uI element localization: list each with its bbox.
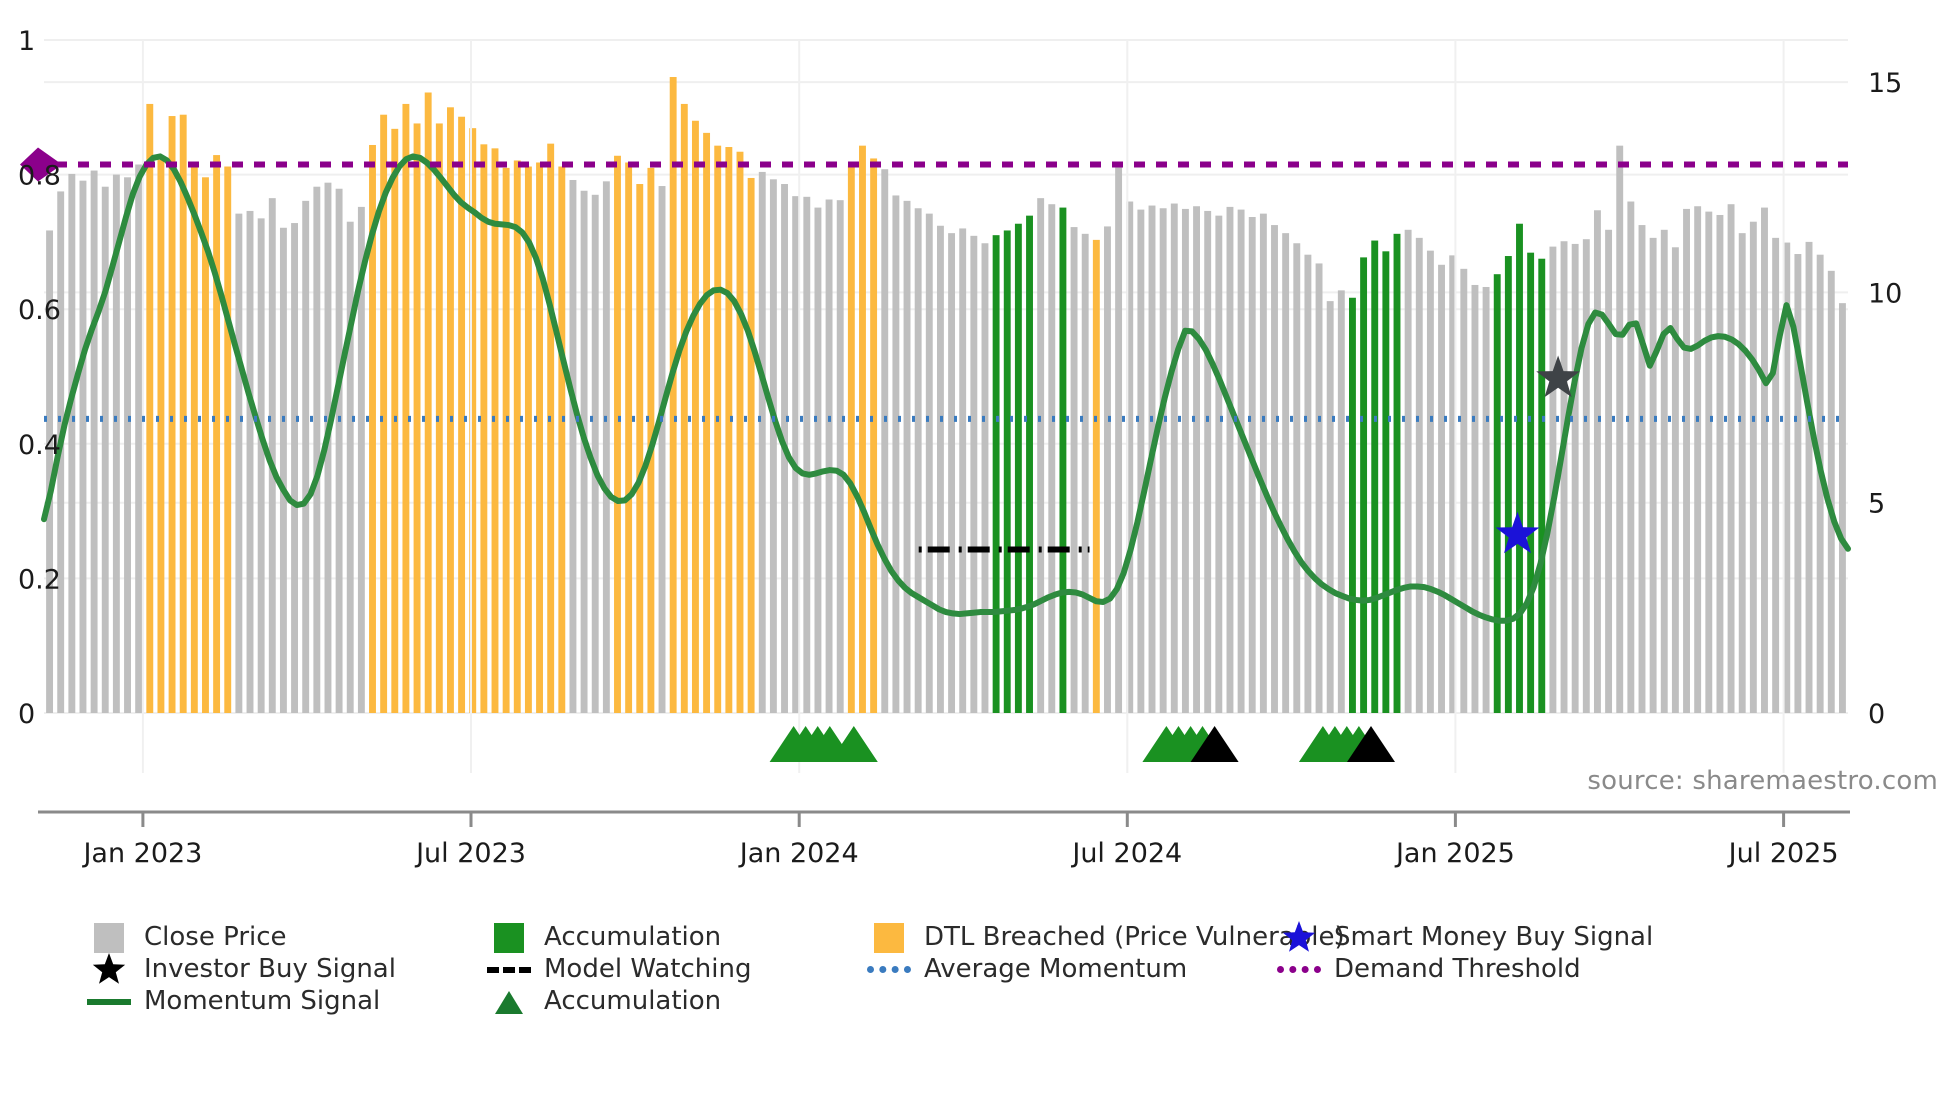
bar-accumulation bbox=[1026, 216, 1033, 713]
bar-dtl-breached bbox=[714, 146, 721, 713]
bar-close-price bbox=[814, 208, 821, 713]
bar-close-price bbox=[1282, 233, 1289, 713]
bar-close-price bbox=[1716, 215, 1723, 713]
bar-accumulation bbox=[1505, 256, 1512, 713]
bar-close-price bbox=[1806, 242, 1813, 713]
bar-close-price bbox=[235, 214, 242, 713]
accumulation-bar-swatch bbox=[486, 923, 532, 953]
bar-close-price bbox=[1472, 285, 1479, 713]
average-momentum-dotted-line-icon bbox=[867, 966, 911, 973]
bar-close-price bbox=[1048, 204, 1055, 713]
bar-close-price bbox=[1639, 225, 1646, 713]
bar-dtl-breached bbox=[625, 162, 632, 713]
y-axis-tick-label-left: 0.8 bbox=[18, 161, 61, 192]
x-axis-tick-label: Jan 2023 bbox=[81, 838, 202, 869]
bar-close-price bbox=[792, 196, 799, 713]
bar-close-price bbox=[258, 218, 265, 713]
bar-close-price bbox=[1160, 208, 1167, 713]
bar-close-price bbox=[291, 223, 298, 713]
bar-close-price bbox=[1594, 210, 1601, 713]
bar-dtl-breached bbox=[191, 163, 198, 713]
legend-item-average-momentum[interactable]: Average Momentum bbox=[866, 954, 1187, 985]
bar-close-price bbox=[759, 172, 766, 713]
bar-close-price bbox=[904, 201, 911, 713]
legend-label-close-price: Close Price bbox=[144, 922, 287, 953]
bar-close-price bbox=[1227, 207, 1234, 713]
bar-accumulation bbox=[1394, 234, 1401, 713]
bar-dtl-breached bbox=[146, 104, 153, 713]
bar-dtl-breached bbox=[725, 147, 732, 713]
momentum-signal-line-icon bbox=[87, 999, 131, 1005]
bar-dtl-breached bbox=[492, 148, 499, 713]
legend-label-demand-threshold: Demand Threshold bbox=[1334, 954, 1581, 985]
bar-close-price bbox=[1739, 233, 1746, 713]
bar-dtl-breached bbox=[737, 152, 744, 713]
bar-close-price bbox=[770, 179, 777, 713]
bar-dtl-breached bbox=[447, 107, 454, 713]
bar-close-price bbox=[1561, 241, 1568, 713]
bar-dtl-breached bbox=[480, 144, 487, 713]
model-watching-dashed-line-icon bbox=[487, 967, 531, 973]
bar-close-price bbox=[970, 236, 977, 713]
bar-close-price bbox=[1694, 206, 1701, 713]
legend-item-accumulation-triangle[interactable]: Accumulation bbox=[486, 986, 721, 1017]
bar-close-price bbox=[1137, 210, 1144, 713]
bar-close-price bbox=[603, 181, 610, 713]
legend-item-dtl-breached[interactable]: DTL Breached (Price Vulnerable) bbox=[866, 922, 1345, 953]
legend-label-smart-money-buy-signal: Smart Money Buy Signal bbox=[1334, 922, 1653, 953]
investor-buy-signal-swatch bbox=[86, 953, 132, 987]
bar-close-price bbox=[948, 233, 955, 713]
bar-close-price bbox=[80, 181, 87, 713]
accumulation-triangle-swatch bbox=[486, 987, 532, 1017]
bar-dtl-breached bbox=[748, 178, 755, 713]
bar-close-price bbox=[1338, 290, 1345, 713]
bar-dtl-breached bbox=[536, 162, 543, 713]
bar-close-price bbox=[1082, 234, 1089, 713]
bar-close-price bbox=[1705, 212, 1712, 713]
model-watching-swatch bbox=[486, 967, 532, 973]
demand-threshold-dotted-line-icon bbox=[1277, 966, 1321, 973]
x-axis-tick-label: Jul 2025 bbox=[1727, 838, 1839, 869]
legend-label-accumulation-triangle: Accumulation bbox=[544, 986, 721, 1017]
bar-dtl-breached bbox=[425, 92, 432, 713]
bar-close-price bbox=[347, 222, 354, 713]
bar-close-price bbox=[1238, 210, 1245, 713]
bar-dtl-breached bbox=[859, 146, 866, 713]
legend-row: Close PriceAccumulationDTL Breached (Pri… bbox=[86, 922, 1936, 953]
bar-close-price bbox=[1316, 263, 1323, 713]
bar-dtl-breached bbox=[414, 123, 421, 713]
dtl-breached-swatch-icon bbox=[874, 923, 904, 953]
bar-accumulation bbox=[993, 235, 1000, 713]
bar-close-price bbox=[982, 243, 989, 713]
dtl-breached-swatch bbox=[866, 923, 912, 953]
legend-item-smart-money-buy-signal[interactable]: Smart Money Buy Signal bbox=[1276, 922, 1653, 953]
bar-close-price bbox=[1460, 269, 1467, 713]
accumulation-triangle-triangle-icon bbox=[492, 987, 526, 1017]
bar-close-price bbox=[124, 177, 131, 713]
bar-close-price bbox=[1405, 230, 1412, 713]
bar-dtl-breached bbox=[224, 167, 231, 713]
bar-dtl-breached bbox=[402, 104, 409, 713]
bar-close-price bbox=[1304, 255, 1311, 713]
bar-dtl-breached bbox=[558, 167, 565, 713]
legend-label-model-watching: Model Watching bbox=[544, 954, 751, 985]
y-axis-tick-label-left: 0.4 bbox=[18, 430, 61, 461]
bar-close-price bbox=[592, 195, 599, 713]
bar-close-price bbox=[280, 228, 287, 713]
y-axis-tick-label-right: 10 bbox=[1868, 278, 1902, 309]
chart-screenshot: 00.20.40.60.81051015Jan 2023Jul 2023Jan … bbox=[0, 0, 1960, 1102]
bar-close-price bbox=[881, 169, 888, 713]
bar-close-price bbox=[1794, 254, 1801, 713]
bar-close-price bbox=[1037, 198, 1044, 713]
bar-accumulation bbox=[1015, 224, 1022, 713]
bar-close-price bbox=[135, 165, 142, 714]
bar-dtl-breached bbox=[169, 116, 176, 713]
bar-close-price bbox=[1260, 214, 1267, 713]
legend-row: Investor Buy SignalModel WatchingAverage… bbox=[86, 954, 1936, 985]
bar-close-price bbox=[1772, 238, 1779, 713]
bar-close-price bbox=[1438, 265, 1445, 713]
smart-money-buy-signal-swatch bbox=[1276, 921, 1322, 955]
bar-accumulation bbox=[1059, 208, 1066, 713]
bar-close-price bbox=[803, 197, 810, 713]
y-axis-tick-label-left: 1 bbox=[18, 26, 35, 57]
bar-close-price bbox=[1750, 222, 1757, 713]
legend-label-momentum-signal: Momentum Signal bbox=[144, 986, 380, 1017]
bar-close-price bbox=[1271, 225, 1278, 713]
bar-close-price bbox=[937, 226, 944, 713]
bar-close-price bbox=[1839, 303, 1846, 713]
bar-accumulation bbox=[1538, 259, 1545, 713]
y-axis-tick-label-right: 0 bbox=[1868, 699, 1885, 730]
bar-dtl-breached bbox=[157, 160, 164, 713]
bar-close-price bbox=[570, 180, 577, 713]
accumulation-bar-swatch-icon bbox=[494, 923, 524, 953]
bar-accumulation bbox=[1004, 230, 1011, 713]
bar-close-price bbox=[1416, 238, 1423, 713]
close-price-swatch-icon bbox=[94, 923, 124, 953]
bar-close-price bbox=[926, 214, 933, 713]
smart-money-buy-signal-star-icon bbox=[1281, 921, 1317, 955]
bar-close-price bbox=[1483, 287, 1490, 713]
bar-dtl-breached bbox=[614, 156, 621, 713]
bar-close-price bbox=[1683, 209, 1690, 713]
legend-item-demand-threshold[interactable]: Demand Threshold bbox=[1276, 954, 1581, 985]
bar-dtl-breached bbox=[547, 144, 554, 713]
bar-close-price bbox=[659, 186, 666, 713]
bar-close-price bbox=[1761, 208, 1768, 713]
investor-buy-signal-star-icon bbox=[91, 953, 127, 987]
y-axis-tick-label-left: 0.6 bbox=[18, 295, 61, 326]
bar-close-price bbox=[1605, 230, 1612, 713]
bar-close-price bbox=[837, 200, 844, 713]
bar-close-price bbox=[313, 187, 320, 713]
bar-close-price bbox=[1104, 226, 1111, 713]
legend-item-close-price[interactable]: Close Price bbox=[86, 922, 287, 953]
bar-accumulation bbox=[1516, 224, 1523, 713]
legend-row: Momentum SignalAccumulation bbox=[86, 986, 1936, 1017]
bar-close-price bbox=[102, 187, 109, 713]
bar-dtl-breached bbox=[681, 104, 688, 713]
bar-accumulation bbox=[1360, 257, 1367, 713]
bar-dtl-breached bbox=[1093, 240, 1100, 713]
bar-close-price bbox=[1204, 211, 1211, 713]
bar-close-price bbox=[1672, 247, 1679, 713]
bar-accumulation bbox=[1382, 251, 1389, 713]
bar-close-price bbox=[1427, 251, 1434, 713]
legend-item-momentum-signal[interactable]: Momentum Signal bbox=[86, 986, 380, 1017]
bar-close-price bbox=[1182, 209, 1189, 713]
bar-close-price bbox=[826, 200, 833, 714]
bar-close-price bbox=[1616, 146, 1623, 713]
chart-legend: Close PriceAccumulationDTL Breached (Pri… bbox=[86, 922, 1936, 1017]
bar-dtl-breached bbox=[848, 166, 855, 713]
bar-close-price bbox=[915, 208, 922, 713]
bar-close-price bbox=[1327, 301, 1334, 713]
y-axis-tick-label-right: 5 bbox=[1868, 489, 1885, 520]
legend-label-accumulation-bar: Accumulation bbox=[544, 922, 721, 953]
bar-close-price bbox=[1661, 230, 1668, 713]
bar-dtl-breached bbox=[692, 121, 699, 713]
momentum-signal-swatch bbox=[86, 999, 132, 1005]
bar-close-price bbox=[247, 211, 254, 713]
legend-label-average-momentum: Average Momentum bbox=[924, 954, 1187, 985]
bar-close-price bbox=[1572, 244, 1579, 713]
bar-close-price bbox=[68, 174, 75, 713]
source-attribution: source: sharemaestro.com bbox=[1587, 766, 1938, 796]
bar-dtl-breached bbox=[703, 133, 710, 713]
bar-close-price bbox=[1215, 216, 1222, 713]
close-price-swatch bbox=[86, 923, 132, 953]
average-momentum-swatch bbox=[866, 966, 912, 973]
bar-accumulation bbox=[1349, 298, 1356, 713]
legend-item-model-watching[interactable]: Model Watching bbox=[486, 954, 751, 985]
bar-close-price bbox=[892, 195, 899, 713]
y-axis-tick-label-left: 0 bbox=[18, 699, 35, 730]
bar-close-price bbox=[1171, 204, 1178, 713]
bar-close-price bbox=[1071, 227, 1078, 713]
bar-dtl-breached bbox=[870, 158, 877, 713]
bar-close-price bbox=[1115, 167, 1122, 713]
bar-close-price bbox=[1193, 206, 1200, 713]
x-axis-tick-label: Jul 2023 bbox=[414, 838, 526, 869]
bar-close-price bbox=[302, 201, 309, 713]
bar-dtl-breached bbox=[503, 168, 510, 713]
x-axis-tick-label: Jan 2025 bbox=[1394, 838, 1515, 869]
bar-close-price bbox=[1650, 238, 1657, 713]
bar-close-price bbox=[1583, 239, 1590, 713]
bar-dtl-breached bbox=[636, 184, 643, 713]
y-axis-tick-label-right: 15 bbox=[1868, 68, 1902, 99]
bar-close-price bbox=[336, 189, 343, 713]
y-axis-tick-label-left: 0.2 bbox=[18, 564, 61, 595]
bar-dtl-breached bbox=[213, 155, 220, 713]
x-axis-tick-label: Jan 2024 bbox=[738, 838, 859, 869]
legend-item-investor-buy-signal[interactable]: Investor Buy Signal bbox=[86, 954, 396, 985]
demand-threshold-swatch bbox=[1276, 966, 1322, 973]
bar-close-price bbox=[1728, 204, 1735, 713]
bar-dtl-breached bbox=[670, 77, 677, 713]
bar-close-price bbox=[959, 228, 966, 713]
legend-item-accumulation-bar[interactable]: Accumulation bbox=[486, 922, 721, 953]
bar-close-price bbox=[91, 171, 98, 713]
legend-label-investor-buy-signal: Investor Buy Signal bbox=[144, 954, 396, 985]
x-axis-tick-label: Jul 2024 bbox=[1070, 838, 1182, 869]
bar-accumulation bbox=[1494, 274, 1501, 713]
bar-dtl-breached bbox=[514, 160, 521, 713]
bar-dtl-breached bbox=[180, 115, 187, 713]
bar-close-price bbox=[1293, 243, 1300, 713]
bar-close-price bbox=[1627, 202, 1634, 713]
bar-accumulation bbox=[1527, 253, 1534, 713]
bar-accumulation bbox=[1371, 241, 1378, 713]
